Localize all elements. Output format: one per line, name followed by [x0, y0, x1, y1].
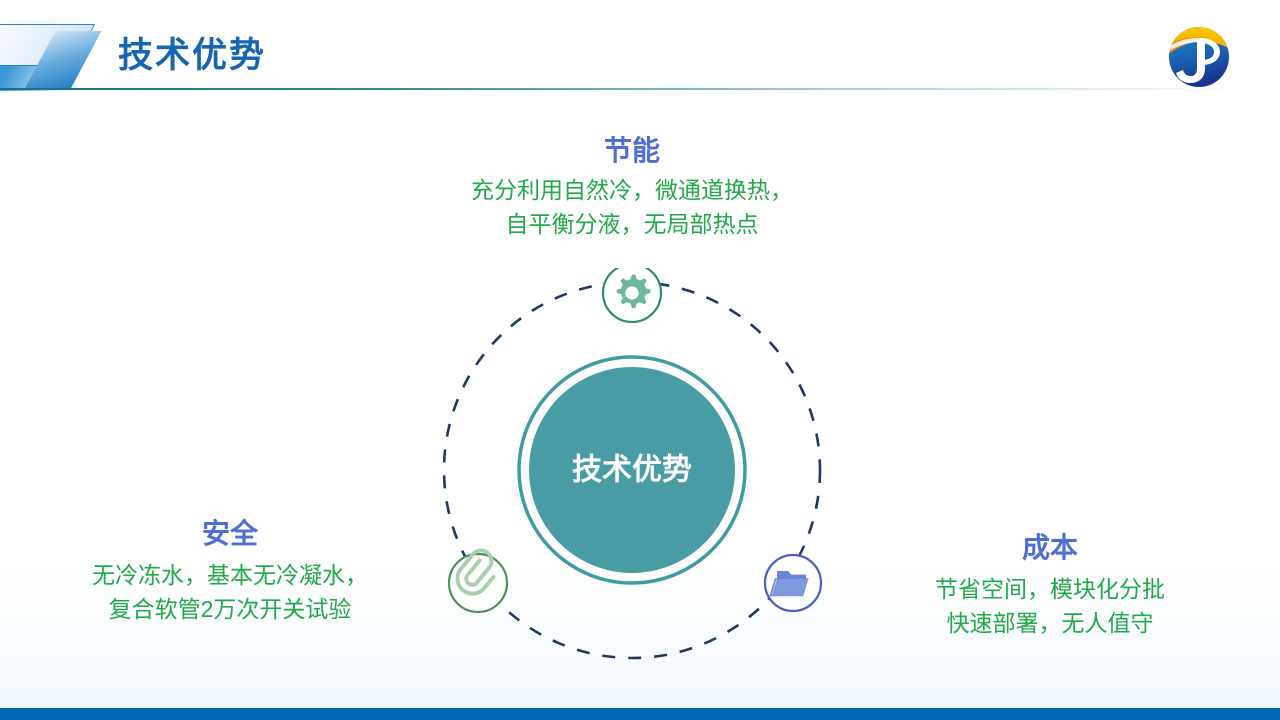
company-globe-logo: [1164, 22, 1234, 92]
callout-safety-body: 无冷冻水，基本无冷凝水， 复合软管2万次开关试验: [20, 558, 440, 627]
header-divider: [0, 88, 1240, 90]
node-safety[interactable]: [449, 550, 507, 612]
callout-cost-body: 节省空间，模块化分批 快速部署，无人值守: [840, 572, 1260, 641]
header-solid-parallelogram: [0, 47, 90, 91]
callout-energy-body: 充分利用自然冷，微通道换热， 自平衡分液，无局部热点: [330, 173, 934, 242]
technology-advantage-diagram: 技术优势: [430, 268, 834, 672]
callout-cost: 成本 节省空间，模块化分批 快速部署，无人值守: [840, 533, 1260, 641]
callout-safety-heading: 安全: [20, 519, 440, 550]
footer-bar: [0, 708, 1280, 720]
header-accent-parallelogram: [25, 31, 102, 89]
header-shade-shape: [0, 20, 95, 38]
slide-canvas: 技术优势: [0, 0, 1280, 720]
slide-header: 技术优势: [0, 0, 1280, 92]
callout-energy: 节能 充分利用自然冷，微通道换热， 自平衡分液，无局部热点: [330, 136, 934, 242]
page-title: 技术优势: [118, 27, 266, 78]
node-cost[interactable]: [765, 555, 821, 611]
center-label: 技术优势: [572, 454, 692, 487]
callout-cost-heading: 成本: [840, 533, 1260, 564]
gear-icon: [617, 275, 651, 309]
callout-safety: 安全 无冷冻水，基本无冷凝水， 复合软管2万次开关试验: [20, 519, 440, 627]
header-outline-parallelogram: [0, 24, 95, 66]
callout-energy-heading: 节能: [330, 136, 934, 167]
node-energy[interactable]: [603, 268, 661, 322]
